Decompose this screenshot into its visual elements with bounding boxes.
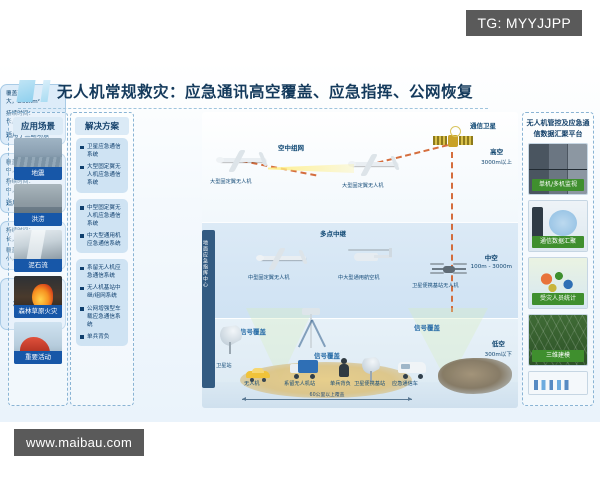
scenario-label: 重要活动: [14, 351, 62, 364]
platform-card-terrain-3d[interactable]: 三维建模: [528, 314, 588, 366]
solution-item: 中型固定翼无人机应急通信系统: [80, 204, 124, 228]
platform-card-label: 单机/多机监视: [532, 179, 584, 191]
title-mark-secondary-icon: [40, 80, 50, 102]
scenario-item-earthquake[interactable]: 地震: [14, 138, 62, 180]
solution-group-1: 卫星应急通信系统 大型固定翼无人机应急通信系统: [76, 138, 128, 193]
scenario-label: 地震: [14, 167, 62, 180]
air-network-tag: 空中组网: [278, 142, 304, 152]
platform-card-data-map[interactable]: 通信数据汇聚: [528, 200, 588, 252]
altitude-name: 高空: [481, 146, 512, 156]
platform-card-label: 三维建模: [532, 350, 584, 362]
page-title: 无人机常规救灾：应急通讯高空覆盖、应急指挥、公网恢复: [57, 80, 473, 102]
scenario-label: 森林草原火灾: [14, 305, 62, 318]
uav-label-right: 大型固定翼无人机: [342, 182, 384, 189]
portable-satellite-station-icon: [362, 356, 384, 382]
site-badge: www.maibau.com: [14, 429, 144, 456]
coverage-span-arrow: [242, 399, 412, 400]
satellite-dish-icon: [220, 324, 246, 358]
solution-item: 卫星应急通信系统: [80, 143, 124, 159]
scenario-label: 洪涝: [14, 213, 62, 226]
solution-item: 系留无人机应急通信系统: [80, 264, 124, 280]
scenarios-header: 应用场景: [13, 117, 63, 135]
scenario-item-flood[interactable]: 洪涝: [14, 184, 62, 226]
large-fixed-wing-uav-left-icon: [220, 150, 272, 172]
band-divider-1: [202, 222, 518, 223]
solutions-column: 解决方案 卫星应急通信系统 大型固定翼无人机应急通信系统 中型固定翼无人机应急通…: [70, 112, 134, 406]
altitude-name: 中空: [471, 252, 512, 262]
medium-uav-label: 中型固定翼无人机: [248, 274, 290, 281]
solution-group-3: 系留无人机应急通信系统 无人机基站中继/组网系统 公网增强型车载应急通信系统 单…: [76, 259, 128, 346]
scenario-item-event[interactable]: 重要活动: [14, 322, 62, 364]
scenario-item-mudslide[interactable]: 泥石流: [14, 230, 62, 272]
medium-fixed-wing-uav-icon: [260, 248, 308, 268]
altitude-range: 300m以下: [485, 350, 512, 358]
altitude-label-high: 高空 3000m以上: [481, 146, 512, 166]
scenario-label: 泥石流: [14, 259, 62, 272]
solution-item: 单兵背负: [80, 333, 124, 341]
satellite-tag: 通信卫星: [470, 120, 496, 130]
platform-header: 无人机管控及应急通信数据汇聚平台: [526, 118, 590, 139]
command-center-label: 地面应急指挥中心: [202, 230, 209, 288]
tethered-uav-icon: [430, 258, 468, 276]
coverage-span-caption: 60公里以上覆盖: [242, 391, 412, 398]
altitude-label-mid: 中空 100m - 3000m: [471, 252, 512, 270]
altitude-range: 100m - 3000m: [471, 264, 512, 270]
general-aviation-label: 中大型通用航空机: [338, 274, 380, 281]
platform-column: 无人机管控及应急通信数据汇聚平台 单机/多机监视 通信数据汇聚 受灾人员统计 三…: [522, 112, 594, 406]
relay-tag-right: 信号覆盖: [414, 322, 440, 332]
altitude-label-low: 低空 300m以下: [485, 338, 512, 358]
ground-item-label: 无人机: [244, 380, 260, 387]
platform-card-label: 受灾人员统计: [532, 293, 584, 305]
solution-item: 大型固定翼无人机应急通信系统: [80, 163, 124, 187]
platform-card-multi-view[interactable]: 单机/多机监视: [528, 143, 588, 195]
platform-card-people-stats[interactable]: 受灾人员统计: [528, 257, 588, 309]
command-center-bar: 地面应急指挥中心: [202, 230, 215, 388]
emergency-comm-van-icon: [398, 360, 428, 376]
poster-title: 无人机常规救灾：应急通讯高空覆盖、应急指挥、公网恢复: [18, 80, 473, 102]
solution-item: 公网增强型车载应急通信系统: [80, 305, 124, 329]
ground-item-label: 应急通信车: [392, 380, 418, 387]
platform-card-chart[interactable]: [528, 371, 588, 395]
altitude-range: 3000m以上: [481, 158, 512, 166]
altitude-name: 低空: [485, 338, 512, 348]
altitude-band-mid: [202, 222, 518, 318]
scenarios-column: 应用场景 地震 洪涝 泥石流 森林草原火灾 重要活动: [8, 112, 68, 406]
ground-item-label: 系留无人机站: [284, 380, 315, 387]
poster-image: 无人机常规救灾：应急通讯高空覆盖、应急指挥、公网恢复 应用场景 地震 洪涝 泥石…: [0, 62, 600, 422]
ground-item-label: 卫星便携基站: [354, 380, 385, 387]
chart-card-icon: [529, 372, 587, 394]
ground-item-label: 单兵背负: [330, 380, 351, 387]
platform-card-label: 通信数据汇聚: [532, 236, 584, 248]
tethered-mast-icon: [298, 308, 324, 354]
tethered-uav-station-icon: [290, 360, 320, 376]
solution-group-2: 中型固定翼无人机应急通信系统 中大型通用机应急通信系统: [76, 199, 128, 254]
scene-diagram: 高空 3000m以上 中空 100m - 3000m 低空 300m以下 通信卫…: [202, 112, 518, 408]
solution-item: 中大型通用机应急通信系统: [80, 232, 124, 248]
solution-item: 无人机基站中继/组网系统: [80, 284, 124, 300]
soldier-backpack-icon: [338, 358, 350, 378]
solutions-header: 解决方案: [75, 117, 129, 135]
title-mark-icon: [16, 80, 35, 102]
tethered-uav-label: 卫星便携基站无人机: [412, 282, 459, 289]
uav-label-left: 大型固定翼无人机: [210, 178, 252, 185]
large-fixed-wing-uav-right-icon: [352, 154, 404, 176]
tg-badge: TG: MYYJJPP: [466, 10, 582, 36]
title-divider: [18, 108, 488, 109]
multi-relay-tag: 多点中继: [320, 228, 346, 238]
uav-vehicle-icon: [246, 368, 272, 380]
general-aviation-helicopter-icon: [348, 246, 394, 264]
dish-label: 卫星站: [216, 362, 232, 369]
scenario-item-wildfire[interactable]: 森林草原火灾: [14, 276, 62, 318]
